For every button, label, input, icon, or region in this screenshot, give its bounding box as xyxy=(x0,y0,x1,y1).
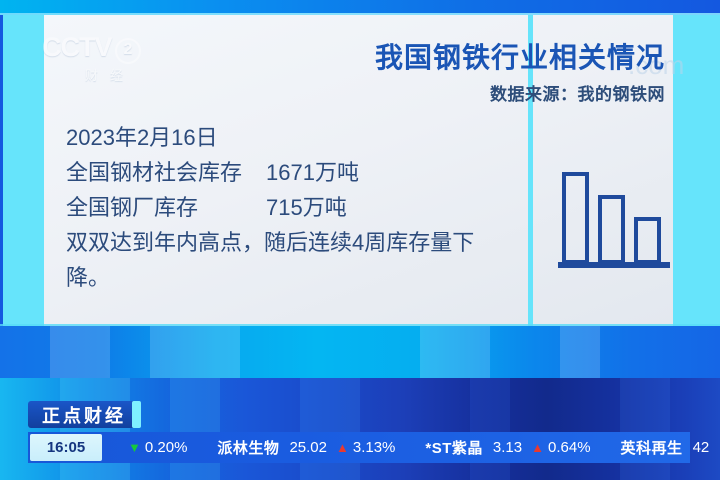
top-gradient-band xyxy=(0,0,720,13)
broadcast-screen: CCTV2 财经 .com 我国钢铁行业相关情况 数据来源：我的钢铁网 2023… xyxy=(0,0,720,480)
index-change-value: 0.20% xyxy=(145,439,188,456)
ticker-item[interactable]: 派林生物 25.02 ▲ 3.13% xyxy=(217,437,395,458)
data-source-label: 数据来源：我的钢铁网 xyxy=(360,80,665,105)
ticker-item[interactable]: 英科再生 42 xyxy=(621,437,719,458)
stock-price: 42 xyxy=(693,439,710,456)
program-badge: 正点财经 xyxy=(28,401,140,428)
arrow-up-icon: ▲ xyxy=(336,441,349,454)
program-accent-bar xyxy=(132,401,141,428)
stat-label: 全国钢材社会库存 xyxy=(66,155,266,190)
stat-value: 715万吨 xyxy=(266,190,347,225)
page-title: 我国钢铁行业相关情况 xyxy=(360,36,665,76)
lower-dark-band xyxy=(0,378,720,480)
ticker-item[interactable]: *ST紫晶 3.13 ▲ 0.64% xyxy=(425,437,590,458)
program-name: 正点财经 xyxy=(42,402,126,428)
stock-change: 3.13% xyxy=(353,439,396,456)
content-body: 2023年2月16日 全国钢材社会库存1671万吨 全国钢厂库存715万吨 双双… xyxy=(66,120,516,295)
mid-cyan-band xyxy=(0,326,720,378)
stat-row-mill-inventory: 全国钢厂库存715万吨 xyxy=(66,190,516,225)
stat-row-social-inventory: 全国钢材社会库存1671万吨 xyxy=(66,155,516,190)
ticker-index-change[interactable]: ▼ 0.20% xyxy=(128,439,187,456)
arrow-down-icon: ▼ xyxy=(128,441,141,454)
summary-note: 双双达到年内高点，随后连续4周库存量下降。 xyxy=(66,225,516,295)
arrow-up-icon: ▲ xyxy=(531,441,544,454)
clock-display: 16:05 xyxy=(30,434,102,461)
stock-ticker-bar[interactable]: 16:05 ▼ 0.20% 派林生物 25.02 ▲ 3.13% *ST紫晶 3… xyxy=(28,432,690,463)
stock-change: 0.64% xyxy=(548,439,591,456)
date-line: 2023年2月16日 xyxy=(66,120,516,155)
left-cyan-rail xyxy=(3,15,44,326)
stock-price: 3.13 xyxy=(493,439,522,456)
stock-price: 25.02 xyxy=(289,439,327,456)
stat-value: 1671万吨 xyxy=(266,155,359,190)
stock-name: 英科再生 xyxy=(621,437,683,458)
stock-name: 派林生物 xyxy=(217,437,279,458)
bar-chart-icon xyxy=(558,152,673,272)
stock-name: *ST紫晶 xyxy=(425,437,483,458)
right-cyan-rail xyxy=(673,15,720,326)
stat-label: 全国钢厂库存 xyxy=(66,190,266,225)
